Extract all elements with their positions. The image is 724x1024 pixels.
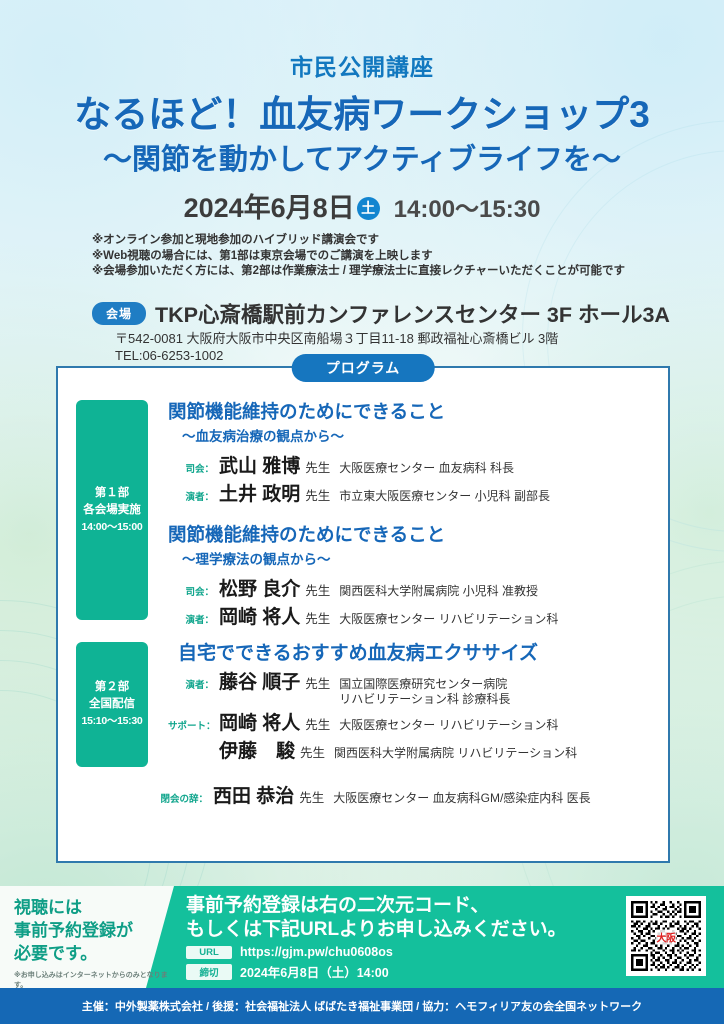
closing-honorific: 先生 [299, 787, 324, 806]
closing-role: 閉会の辞： [146, 791, 213, 805]
person-role: 演者： [168, 677, 219, 691]
note-line: ※オンライン参加と現地参加のハイブリッド講演会です [92, 233, 684, 249]
talk-subtitle: 〜理学療法の観点から〜 [182, 548, 658, 568]
person-row: 司会： 武山 雅博 先生 大阪医療センター 血友病科 科長 [168, 451, 658, 478]
page-title: なるほど！血友病ワークショップ3 [0, 84, 724, 138]
part1-time: 14:00〜15:00 [82, 519, 143, 536]
person-affiliation: 市立東大阪医療センター 小児科 副部長 [339, 489, 550, 504]
talk-subtitle: 〜血友病治療の観点から〜 [182, 425, 658, 445]
person-honorific: 先生 [305, 457, 330, 476]
registration-notice: 視聴には 事前予約登録が 必要です。 ※お申し込みはインターネットからのみとなり… [14, 896, 174, 990]
poster-root: 市民公開講座 なるほど！血友病ワークショップ3 〜関節を動かしてアクティブライフ… [0, 0, 724, 1024]
person-name: 土井 政明 [219, 479, 300, 506]
part2-body: 自宅でできるおすすめ血友病エクササイズ 演者： 藤谷 順子 先生 国立国際医療研… [148, 642, 668, 767]
notice-line-1: 視聴には [14, 896, 174, 919]
registration-deadline: 2024年6月8日（土）14:00 [240, 962, 389, 981]
registration-headline-2: もしくは下記URLよりお申し込みください。 [186, 918, 606, 942]
person-name: 藤谷 順子 [219, 667, 300, 694]
registration-headline-1: 事前予約登録は右の二次元コード、 [186, 894, 606, 918]
part2-time: 15:10〜15:30 [82, 713, 143, 730]
event-notes: ※オンライン参加と現地参加のハイブリッド講演会です ※Web視聴の場合には、第1… [92, 233, 684, 280]
person-name: 岡崎 将人 [219, 602, 300, 629]
program-part-2: 第２部 全国配信 15:10〜15:30 自宅でできるおすすめ血友病エクササイズ… [58, 642, 668, 767]
person-role: サポート： [168, 718, 219, 732]
talk-title: 関節機能維持のためにできること [168, 400, 658, 424]
person-role: 司会： [168, 584, 219, 598]
person-affiliation: 関西医科大学附属病院 小児科 准教授 [339, 584, 538, 599]
person-row: 演者： 岡崎 将人 先生 大阪医療センター リハビリテーション科 [168, 602, 658, 629]
url-tag: URL [186, 946, 232, 959]
person-role: 演者： [168, 612, 219, 626]
person-row: 司会： 松野 良介 先生 関西医科大学附属病院 小児科 准教授 [168, 574, 658, 601]
program-label-pill: プログラム [292, 354, 435, 382]
talk-title: 関節機能維持のためにできること [168, 523, 658, 547]
person-affiliation: 大阪医療センター リハビリテーション科 [339, 718, 558, 733]
person-affiliation: 関西医科大学附属病院 リハビリテーション科 [334, 746, 577, 761]
notice-line-2: 事前予約登録が [14, 919, 174, 942]
event-date: 2024年6月8日 [184, 193, 355, 223]
person-role: 演者： [168, 489, 219, 503]
person-honorific: 先生 [300, 742, 325, 761]
footer-bar: 主催：中外製薬株式会社 / 後援：社会福祉法人 ばばたき福祉事業団 / 協力：ヘ… [0, 988, 724, 1024]
person-honorific: 先生 [305, 485, 330, 504]
registration-details: 事前予約登録は右の二次元コード、 もしくは下記URLよりお申し込みください。 U… [186, 894, 606, 981]
spacer [168, 507, 658, 523]
qr-code[interactable]: 大阪 [626, 896, 706, 976]
program-card: プログラム 第１部 各会場実施 14:00〜15:00 関節機能維持のためにでき… [56, 366, 670, 863]
person-honorific: 先生 [305, 608, 330, 627]
event-datetime: 2024年6月8日土14:00〜15:30 [0, 186, 724, 225]
notice-line-3: 必要です。 [14, 942, 174, 965]
person-row: サポート： 岡崎 将人 先生 大阪医療センター リハビリテーション科 [168, 708, 658, 735]
venue-name: TKP心斎橋駅前カンファレンスセンター 3F ホール3A [155, 298, 670, 329]
person-affiliation: 大阪医療センター リハビリテーション科 [339, 612, 558, 627]
part1-mode: 各会場実施 [83, 502, 141, 519]
part1-number: 第１部 [95, 485, 130, 502]
person-name: 伊藤 駿 [219, 736, 295, 763]
registration-url[interactable]: https://gjm.pw/chu0608os [240, 945, 393, 959]
weekday-badge: 土 [357, 197, 380, 220]
page-subtitle: 〜関節を動かしてアクティブライフを〜 [0, 136, 724, 178]
part2-number: 第２部 [95, 679, 130, 696]
closing-name: 西田 恭治 [213, 781, 294, 808]
person-name: 松野 良介 [219, 574, 300, 601]
registration-strip: 視聴には 事前予約登録が 必要です。 ※お申し込みはインターネットからのみとなり… [0, 886, 724, 988]
part2-mode: 全国配信 [89, 696, 135, 713]
venue-address: 〒542-0081 大阪府大阪市中央区南船場３丁目11-18 郵政福祉心斎橋ビル… [115, 330, 704, 347]
note-line: ※Web視聴の場合には、第1部は東京会場でのご講演を上映します [92, 249, 684, 265]
venue-label-pill: 会場 [92, 302, 146, 325]
part2-badge: 第２部 全国配信 15:10〜15:30 [76, 642, 148, 767]
person-affiliation: 大阪医療センター 血友病科 科長 [339, 461, 514, 476]
person-honorific: 先生 [305, 580, 330, 599]
part1-body: 関節機能維持のためにできること 〜血友病治療の観点から〜 司会： 武山 雅博 先… [148, 400, 668, 630]
person-role: 司会： [168, 461, 219, 475]
person-name: 武山 雅博 [219, 451, 300, 478]
footer-credits: 主催：中外製薬株式会社 / 後援：社会福祉法人 ばばたき福祉事業団 / 協力：ヘ… [82, 998, 642, 1014]
person-affiliation: 国立国際医療研究センター病院 リハビリテーション科 診療科長 [339, 677, 510, 707]
program-part-1: 第１部 各会場実施 14:00〜15:00 関節機能維持のためにできること 〜血… [58, 400, 668, 630]
qr-canvas: 大阪 [631, 901, 701, 971]
url-row: URL https://gjm.pw/chu0608os [186, 945, 606, 959]
note-line: ※会場参加いただく方には、第2部は作業療法士 / 理学療法士に直接レクチャーいた… [92, 264, 684, 280]
qr-region-label: 大阪 [656, 930, 677, 945]
deadline-tag: 締切 [186, 964, 232, 980]
talk-title: 自宅でできるおすすめ血友病エクササイズ [178, 642, 658, 666]
person-row: 伊藤 駿 先生 関西医科大学附属病院 リハビリテーション科 [168, 736, 658, 763]
person-honorific: 先生 [305, 714, 330, 733]
person-name: 岡崎 将人 [219, 708, 300, 735]
notice-fineprint: ※お申し込みはインターネットからのみとなります。 [14, 970, 174, 990]
closing-remarks-row: 閉会の辞： 西田 恭治 先生 大阪医療センター 血友病科GM/感染症内科 医長 [146, 781, 668, 808]
venue-row: 会場 TKP心斎橋駅前カンファレンスセンター 3F ホール3A [92, 298, 704, 329]
event-kicker: 市民公開講座 [0, 48, 724, 82]
person-row: 演者： 土井 政明 先生 市立東大阪医療センター 小児科 副部長 [168, 479, 658, 506]
deadline-row: 締切 2024年6月8日（土）14:00 [186, 962, 606, 981]
closing-affiliation: 大阪医療センター 血友病科GM/感染症内科 医長 [333, 791, 590, 806]
person-row: 演者： 藤谷 順子 先生 国立国際医療研究センター病院 リハビリテーション科 診… [168, 667, 658, 707]
event-time: 14:00〜15:30 [394, 196, 541, 223]
person-honorific: 先生 [305, 673, 330, 692]
part1-badge: 第１部 各会場実施 14:00〜15:00 [76, 400, 148, 620]
